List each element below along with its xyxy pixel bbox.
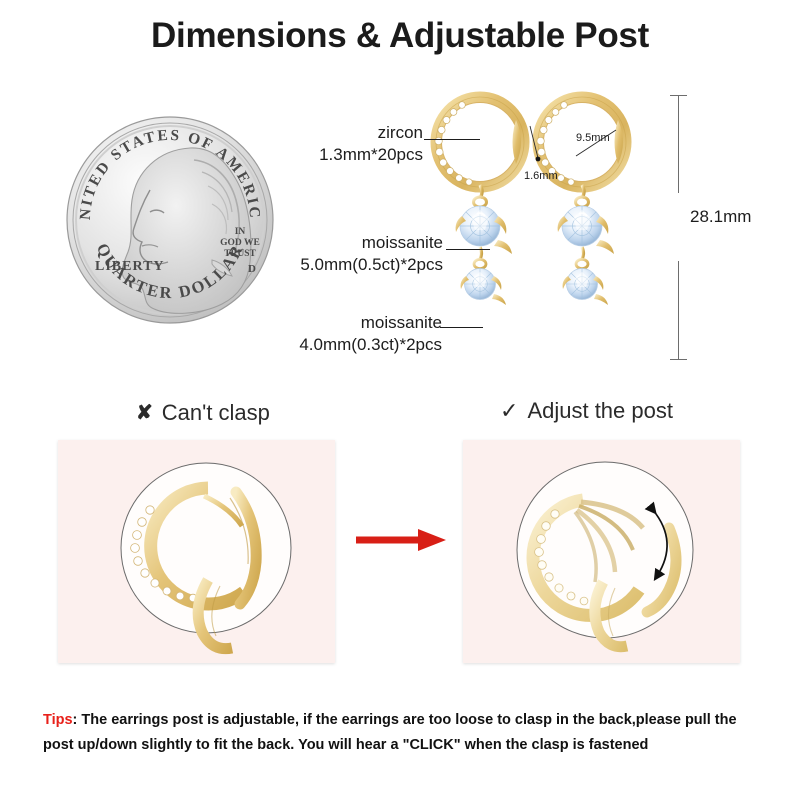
callout-zircon-label: zircon bbox=[378, 123, 423, 142]
callout-zircon: zircon 1.3mm*20pcs bbox=[303, 122, 423, 166]
tips-text: The earrings post is adjustable, if the … bbox=[43, 712, 737, 753]
cross-icon: ✘ bbox=[136, 403, 153, 423]
callout-moissanite-large-label: moissanite bbox=[362, 233, 443, 252]
earrings-product-image bbox=[420, 84, 640, 376]
tips-keyword: Tips bbox=[43, 712, 73, 728]
measurement-total-length-dimension: 28.1mm bbox=[664, 95, 760, 360]
coin-liberty-text: LIBERTY bbox=[95, 259, 165, 274]
comparison-left-label: Can't clasp bbox=[162, 400, 270, 426]
svg-text:TRUST: TRUST bbox=[224, 249, 256, 259]
comparison-right-label: Adjust the post bbox=[527, 398, 673, 424]
us-quarter-coin-image: UNITED STATES OF AMERICA QUARTER DOLLAR … bbox=[62, 112, 278, 328]
callout-moissanite-large-spec: 5.0mm(0.5ct)*2pcs bbox=[283, 254, 443, 276]
dimension-bar-top bbox=[678, 95, 679, 193]
callout-moissanite-small-label: moissanite bbox=[361, 313, 442, 332]
svg-text:GOD WE: GOD WE bbox=[220, 238, 260, 248]
comparison-photo-adjust-post bbox=[463, 440, 740, 663]
transition-arrow-icon bbox=[356, 527, 448, 553]
measurement-hoop-diameter: 9.5mm bbox=[576, 132, 610, 144]
measurement-total-length: 28.1mm bbox=[690, 207, 751, 227]
comparison-heading-adjust-post: ✓ Adjust the post bbox=[500, 398, 673, 424]
comparison-photo-cant-clasp bbox=[58, 440, 335, 663]
callout-moissanite-large: moissanite 5.0mm(0.5ct)*2pcs bbox=[283, 232, 443, 276]
coin-mint-mark: D bbox=[248, 263, 256, 275]
leader-line-zircon bbox=[424, 139, 480, 140]
comparison-heading-cant-clasp: ✘ Can't clasp bbox=[136, 400, 270, 426]
check-icon: ✓ bbox=[500, 400, 518, 422]
callout-moissanite-small-spec: 4.0mm(0.3ct)*2pcs bbox=[276, 334, 442, 356]
svg-text:IN: IN bbox=[235, 227, 246, 237]
callout-zircon-spec: 1.3mm*20pcs bbox=[303, 144, 423, 166]
leader-line-moissanite-small bbox=[440, 327, 483, 328]
leader-line-moissanite-large bbox=[446, 249, 490, 250]
page-title: Dimensions & Adjustable Post bbox=[0, 16, 800, 56]
dimension-bar-bottom bbox=[678, 261, 679, 359]
dimension-cap-bottom bbox=[670, 359, 687, 360]
measurement-hoop-thickness: 1.6mm bbox=[524, 170, 558, 182]
infographic-page: Dimensions & Adjustable Post bbox=[0, 0, 800, 800]
callout-moissanite-small: moissanite 4.0mm(0.3ct)*2pcs bbox=[276, 312, 442, 356]
tips-note: Tips: The earrings post is adjustable, i… bbox=[43, 708, 765, 758]
